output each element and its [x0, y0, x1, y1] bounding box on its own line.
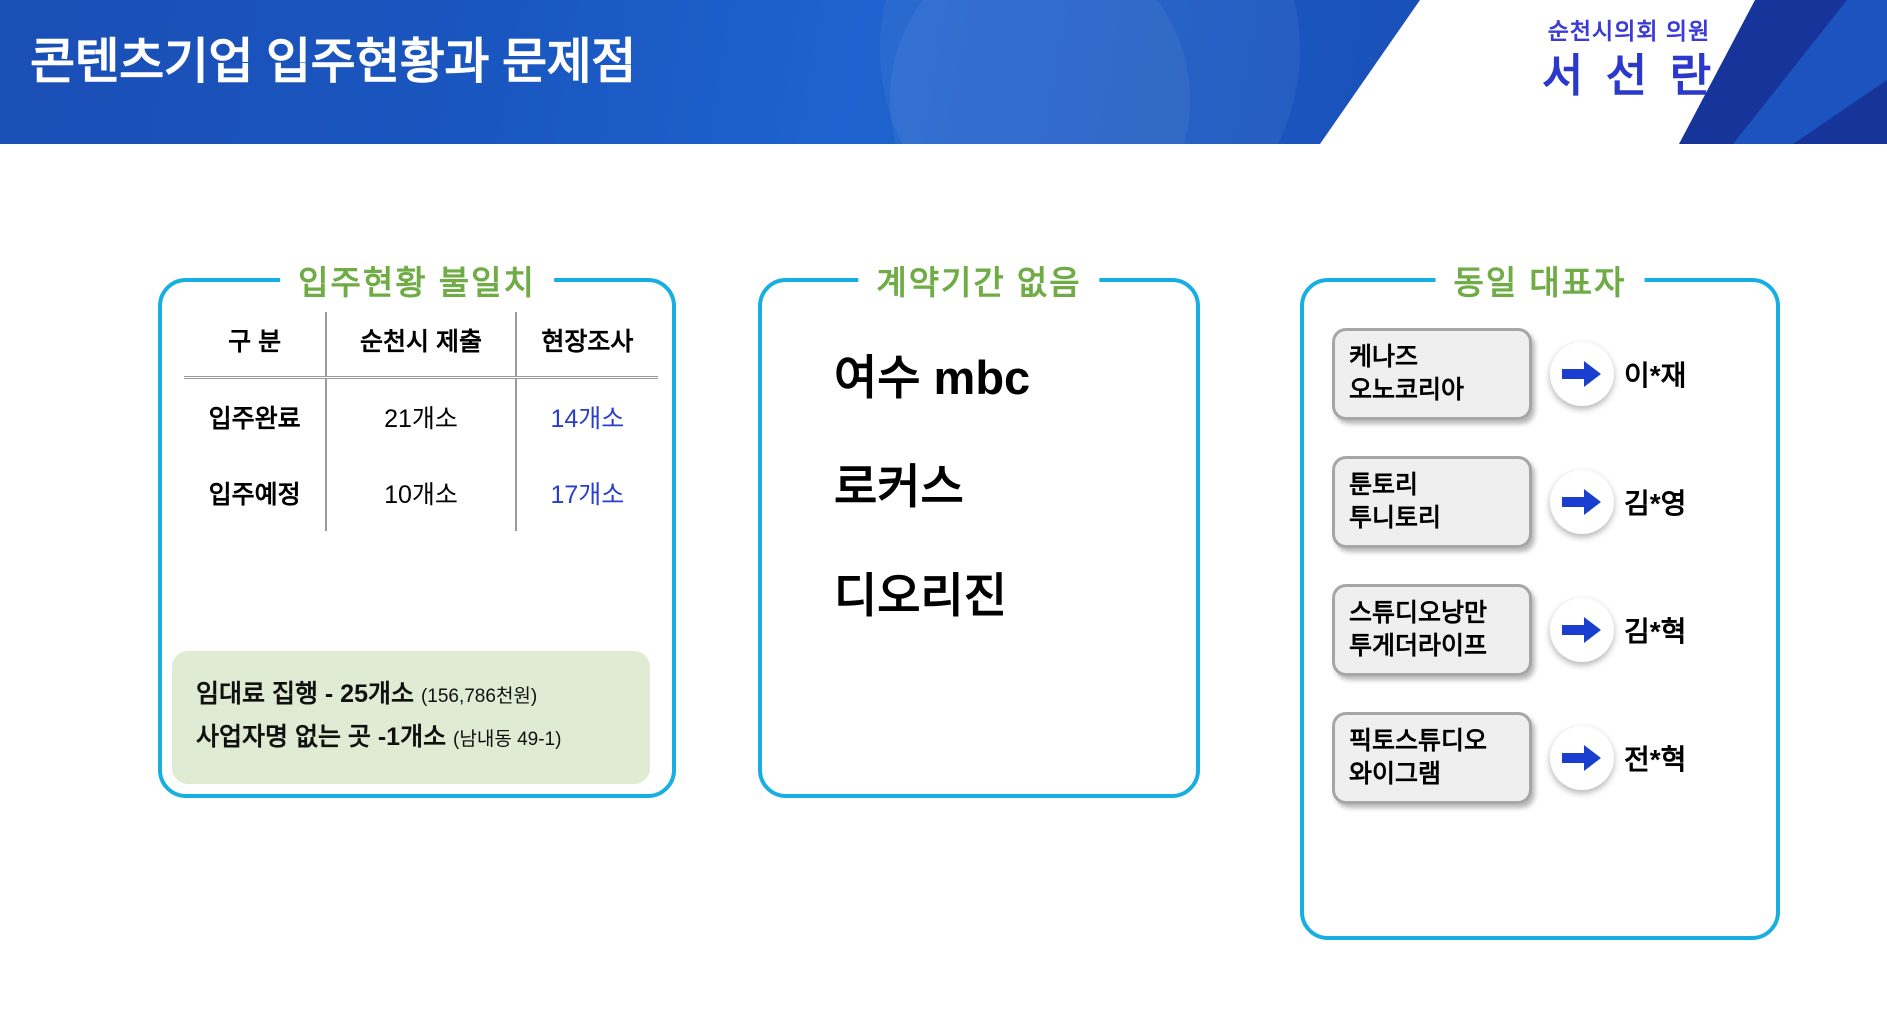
list-item: 픽토스튜디오 와이그램 전*혁: [1304, 694, 1776, 822]
company-name: 픽토스튜디오: [1349, 725, 1515, 758]
list-item: 로커스: [762, 463, 1196, 510]
panel-occupancy-title: 입주현황 불일치: [280, 256, 554, 304]
representative-name: 김*영: [1624, 482, 1686, 522]
note-sub-0: (156,786천원): [421, 686, 537, 707]
col-header-surveyed: 현장조사: [516, 312, 658, 378]
panel-same-representative: 동일 대표자 케나즈 오노코리아 이*재 툰토리 투니토리: [1300, 278, 1780, 940]
list-item: 여수 mbc: [762, 354, 1196, 401]
panel-no-contract-period: 계약기간 없음 여수 mbc 로커스 디오리진: [758, 278, 1200, 798]
representative-name: 김*혁: [1624, 610, 1686, 650]
list-item: 디오리진: [762, 572, 1196, 619]
representative-name: 이*재: [1624, 354, 1686, 394]
representative-row-list: 케나즈 오노코리아 이*재 툰토리 투니토리 김*영: [1304, 310, 1776, 822]
member-role: 순천시의회 의원: [1479, 18, 1779, 46]
company-name: 투니토리: [1349, 502, 1515, 535]
panel-contract-title: 계약기간 없음: [858, 256, 1099, 304]
contract-company-list: 여수 mbc 로커스 디오리진: [762, 354, 1196, 681]
arrow-right-icon: [1550, 598, 1614, 662]
note-main-0: 임대료 집행 - 25개소: [196, 680, 414, 708]
note-line: 임대료 집행 - 25개소 (156,786천원): [196, 673, 650, 717]
member-name: 서 선 란: [1479, 48, 1779, 104]
note-main-1: 사업자명 없는 곳 -1개소: [196, 723, 446, 751]
cell-surveyed-0: 14개소: [516, 378, 658, 456]
company-name: 툰토리: [1349, 469, 1515, 502]
company-group-box: 픽토스튜디오 와이그램: [1332, 712, 1532, 804]
table-row: 입주예정 10개소 17개소: [184, 455, 658, 531]
list-item: 툰토리 투니토리 김*영: [1304, 438, 1776, 566]
company-name: 투게더라이프: [1349, 630, 1515, 663]
cell-surveyed-1: 17개소: [516, 455, 658, 531]
company-name: 오노코리아: [1349, 374, 1515, 407]
company-name: 스튜디오낭만: [1349, 597, 1515, 630]
company-group-box: 툰토리 투니토리: [1332, 456, 1532, 548]
page-title: 콘텐츠기업 입주현황과 문제점: [30, 22, 636, 93]
company-name: 케나즈: [1349, 341, 1515, 374]
occupancy-notes-box: 임대료 집행 - 25개소 (156,786천원) 사업자명 없는 곳 -1개소…: [172, 651, 650, 785]
cell-submitted-1: 10개소: [326, 455, 516, 531]
note-sub-1: (남내동 49-1): [453, 729, 561, 750]
panel-occupancy-mismatch: 입주현황 불일치 구 분 순천시 제출 현장조사 입주완료 21개소 14개소 …: [158, 278, 676, 798]
table-row: 입주완료 21개소 14개소: [184, 378, 658, 456]
list-item: 케나즈 오노코리아 이*재: [1304, 310, 1776, 438]
representative-name: 전*혁: [1624, 738, 1686, 778]
panel-representative-title: 동일 대표자: [1436, 256, 1645, 304]
company-group-box: 스튜디오낭만 투게더라이프: [1332, 584, 1532, 676]
cell-category-0: 입주완료: [184, 378, 326, 456]
arrow-right-icon: [1550, 470, 1614, 534]
col-header-category: 구 분: [184, 312, 326, 378]
company-group-box: 케나즈 오노코리아: [1332, 328, 1532, 420]
arrow-right-icon: [1550, 726, 1614, 790]
list-item: 스튜디오낭만 투게더라이프 김*혁: [1304, 566, 1776, 694]
cell-category-1: 입주예정: [184, 455, 326, 531]
occupancy-table: 구 분 순천시 제출 현장조사 입주완료 21개소 14개소 입주예정 10개소…: [184, 312, 658, 531]
col-header-submitted: 순천시 제출: [326, 312, 516, 378]
slide-header: 콘텐츠기업 입주현황과 문제점 순천시의회 의원 서 선 란: [0, 0, 1887, 144]
cell-submitted-0: 21개소: [326, 378, 516, 456]
member-identity: 순천시의회 의원 서 선 란: [1479, 18, 1779, 104]
note-line: 사업자명 없는 곳 -1개소 (남내동 49-1): [196, 716, 650, 760]
table-header-row: 구 분 순천시 제출 현장조사: [184, 312, 658, 378]
company-name: 와이그램: [1349, 758, 1515, 791]
arrow-right-icon: [1550, 342, 1614, 406]
